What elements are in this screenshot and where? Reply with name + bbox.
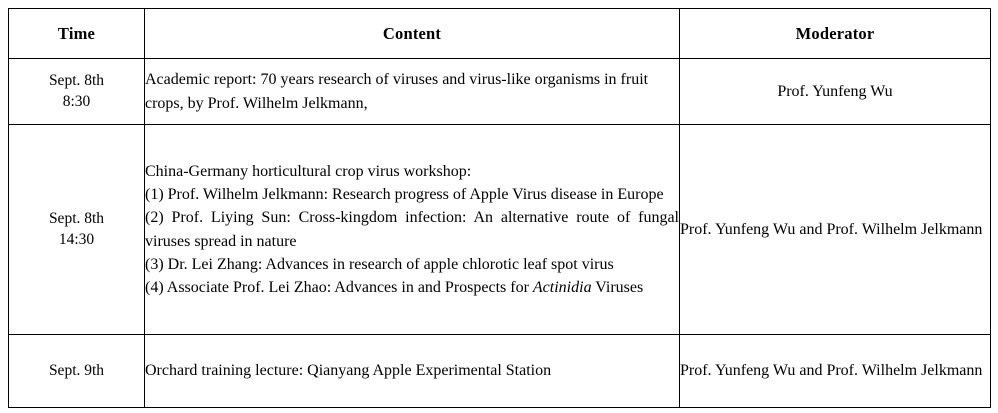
cell-content: China-Germany horticultural crop virus w… — [145, 125, 680, 335]
content-item-4-suffix: Viruses — [592, 279, 644, 296]
moderator-line-2: Jelkmann — [921, 362, 982, 379]
time-date: Sept. 8th — [9, 71, 144, 92]
time-clock: 8:30 — [9, 92, 144, 113]
schedule-table: Time Content Moderator Sept. 8th 8:30 Ac… — [8, 8, 991, 408]
content-paragraph-item-2: (2) Prof. Liying Sun: Cross-kingdom infe… — [145, 206, 679, 252]
content-paragraph-item-1: (1) Prof. Wilhelm Jelkmann: Research pro… — [145, 183, 679, 206]
time-clock: 14:30 — [9, 230, 144, 251]
content-item-4-text: (4) Associate Prof. Lei Zhao: Advances i… — [145, 279, 533, 296]
column-header-time: Time — [9, 9, 145, 59]
cell-moderator: Prof. Yunfeng Wu and Prof. Wilhelm Jelkm… — [680, 125, 991, 335]
column-header-content: Content — [145, 9, 680, 59]
cell-time: Sept. 8th 8:30 — [9, 59, 145, 125]
cell-moderator: Prof. Yunfeng Wu and Prof. Wilhelm Jelkm… — [680, 335, 991, 408]
moderator-line-1: Prof. Yunfeng Wu and Prof. Wilhelm — [680, 362, 917, 379]
cell-time: Sept. 9th — [9, 335, 145, 408]
time-date: Sept. 9th — [9, 361, 144, 382]
content-item-4-species: Actinidia — [533, 279, 592, 296]
content-paragraph-item-4: (4) Associate Prof. Lei Zhao: Advances i… — [145, 276, 679, 299]
cell-content: Academic report: 70 years research of vi… — [145, 59, 680, 125]
cell-time: Sept. 8th 14:30 — [9, 125, 145, 335]
cell-moderator: Prof. Yunfeng Wu — [680, 59, 991, 125]
table-row: Sept. 8th 8:30 Academic report: 70 years… — [9, 59, 991, 125]
table-row: Sept. 8th 14:30 China-Germany horticultu… — [9, 125, 991, 335]
content-paragraph: Academic report: 70 years research of vi… — [145, 68, 679, 114]
column-header-moderator: Moderator — [680, 9, 991, 59]
cell-content: Orchard training lecture: Qianyang Apple… — [145, 335, 680, 408]
time-date: Sept. 8th — [9, 209, 144, 230]
table-header-row: Time Content Moderator — [9, 9, 991, 59]
content-paragraph-item-3: (3) Dr. Lei Zhang: Advances in research … — [145, 253, 679, 276]
content-paragraph-title: China-Germany horticultural crop virus w… — [145, 160, 679, 183]
content-paragraph: Orchard training lecture: Qianyang Apple… — [145, 359, 679, 382]
table-row: Sept. 9th Orchard training lecture: Qian… — [9, 335, 991, 408]
